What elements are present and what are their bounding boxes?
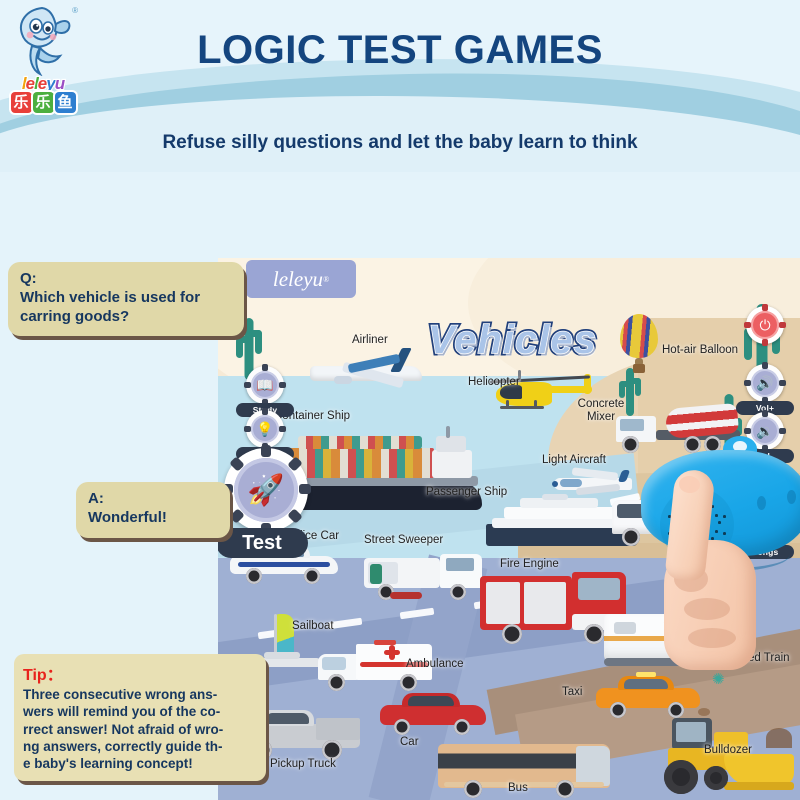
label-fire-engine: Fire Engine bbox=[500, 558, 559, 570]
lightbulb-icon: 💡 bbox=[251, 415, 279, 443]
test-button-label: Test bbox=[218, 528, 308, 558]
label-airliner: Airliner bbox=[352, 334, 388, 346]
question-line-1: Which vehicle is used for bbox=[20, 289, 232, 308]
page-subtitle: Refuse silly questions and let the baby … bbox=[0, 132, 800, 154]
header-banner: LOGIC TEST GAMES Refuse silly questions … bbox=[0, 0, 800, 172]
page-title: LOGIC TEST GAMES bbox=[0, 28, 800, 73]
vehicle-bus[interactable] bbox=[438, 738, 618, 800]
brand-wordmark: leleyu bbox=[4, 74, 82, 94]
volume-up-button[interactable]: 🔊 Vol+ bbox=[746, 364, 784, 402]
tip-line: Three consecutive wrong ans- bbox=[23, 686, 257, 703]
label-street-sweeper: Street Sweeper bbox=[364, 534, 443, 546]
hand-knuckle bbox=[684, 598, 730, 620]
label-helicopter: Helicopter bbox=[468, 376, 520, 388]
power-button[interactable]: ⏻ bbox=[746, 306, 784, 344]
hand-knuckle bbox=[688, 628, 736, 648]
poster-brand-badge: leleyu® bbox=[246, 260, 356, 298]
label-bulldozer: Bulldozer bbox=[704, 744, 752, 756]
power-icon: ⏻ bbox=[751, 311, 779, 339]
answer-bubble: A: Wonderful! bbox=[76, 482, 230, 538]
label-pickup-truck: Pickup Truck bbox=[270, 758, 336, 770]
brand-chinese-name: 乐 乐 鱼 bbox=[6, 92, 80, 114]
label-ambulance: Ambulance bbox=[406, 658, 464, 670]
label-passenger-ship: Passenger Ship bbox=[426, 486, 507, 498]
test-button[interactable]: 🚀 bbox=[224, 448, 308, 532]
tip-line: wers will remind you of the co- bbox=[23, 703, 257, 720]
label-light-aircraft: Light Aircraft bbox=[542, 454, 606, 466]
rocket-icon: 🚀 bbox=[234, 458, 298, 522]
answer-label: A: bbox=[88, 490, 218, 509]
registered-mark-icon: ® bbox=[323, 275, 329, 284]
label-bus: Bus bbox=[508, 782, 528, 794]
tip-line: rrect answer! Not afraid of wro- bbox=[23, 721, 257, 738]
chinese-char: 乐 bbox=[33, 92, 54, 113]
poster-brand-text: leleyu bbox=[273, 267, 323, 292]
logo-letter: e bbox=[38, 74, 46, 93]
tip-line: ng answers, correctly guide th- bbox=[23, 738, 257, 755]
desert-bush-icon: ✺ bbox=[712, 670, 725, 688]
tip-label: Tip： bbox=[23, 661, 257, 685]
speaker-eye bbox=[787, 490, 796, 504]
chinese-char: 鱼 bbox=[55, 92, 76, 113]
logo-letter: u bbox=[55, 74, 64, 93]
logo-letter: e bbox=[26, 74, 34, 93]
vehicle-hot-air-balloon[interactable] bbox=[616, 314, 662, 374]
label-taxi: Taxi bbox=[562, 686, 582, 698]
study-button[interactable]: 📖 Study bbox=[246, 366, 284, 404]
answer-text: Wonderful! bbox=[88, 509, 218, 528]
logo-letter: y bbox=[46, 74, 54, 93]
tip-box: Tip： Three consecutive wrong ans- wers w… bbox=[14, 654, 266, 781]
chinese-char: 乐 bbox=[11, 92, 32, 113]
pointing-hand bbox=[650, 470, 770, 670]
volume-up-icon: 🔊 bbox=[751, 369, 779, 397]
label-car: Car bbox=[400, 736, 419, 748]
question-label: Q: bbox=[20, 270, 232, 289]
brand-logo: ® leleyu 乐 乐 鱼 bbox=[4, 2, 82, 114]
vehicle-airliner[interactable] bbox=[304, 346, 430, 402]
facts-button[interactable]: 💡 Facts bbox=[246, 410, 284, 448]
tip-line: e baby's learning concept! bbox=[23, 755, 257, 772]
vehicle-street-sweeper[interactable] bbox=[364, 548, 486, 606]
book-icon: 📖 bbox=[251, 371, 279, 399]
label-concrete-mixer: Concrete Mixer bbox=[570, 398, 632, 424]
product-marketing-image: LOGIC TEST GAMES Refuse silly questions … bbox=[0, 0, 800, 800]
question-line-2: carring goods? bbox=[20, 308, 232, 327]
label-hot-air-balloon: Hot-air Balloon bbox=[662, 344, 738, 356]
dolphin-mascot-icon bbox=[12, 4, 74, 76]
vehicle-car[interactable] bbox=[380, 690, 490, 734]
label-sailboat: Sailboat bbox=[292, 620, 334, 632]
poster-title: Vehicles bbox=[428, 318, 597, 363]
question-bubble: Q: Which vehicle is used for carring goo… bbox=[8, 262, 244, 336]
